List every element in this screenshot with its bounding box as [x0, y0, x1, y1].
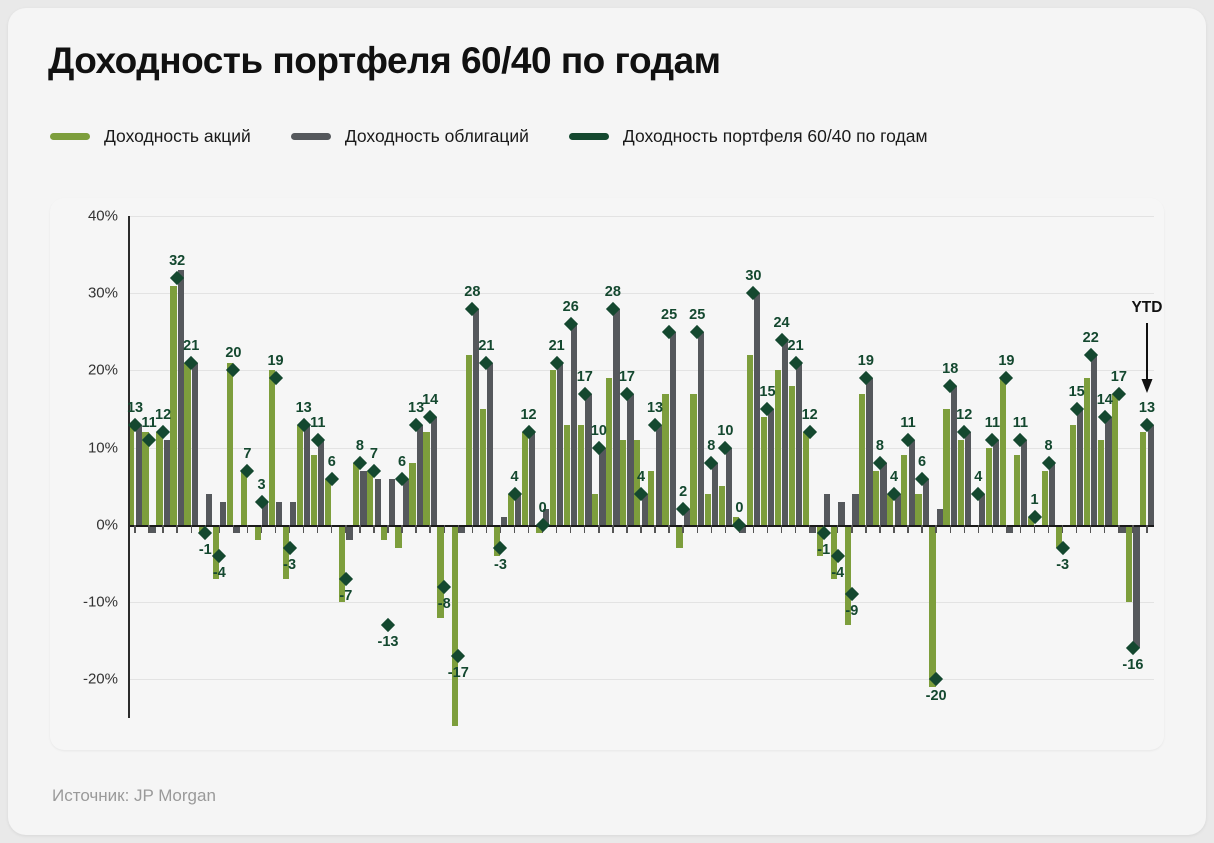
ytd-label: YTD: [1131, 299, 1162, 317]
x-axis-tick: [626, 525, 627, 533]
bar-stocks: [1084, 378, 1090, 525]
x-axis-tick: [528, 525, 529, 533]
bar-value-label: 22: [1083, 330, 1099, 346]
x-axis-tick: [444, 525, 445, 533]
bar-stocks: [803, 432, 809, 525]
x-axis-tick: [682, 525, 683, 533]
y-axis-tick-label: 20%: [88, 362, 118, 379]
bar-bonds: [431, 417, 437, 525]
x-axis-tick: [1104, 525, 1105, 533]
bar-value-label: 6: [328, 454, 336, 470]
x-axis-tick: [978, 525, 979, 533]
x-axis-tick: [486, 525, 487, 533]
legend-swatch-stocks-icon: [50, 133, 90, 140]
bar-value-label: 11: [985, 415, 1000, 431]
y-axis-tick-label: 0%: [96, 516, 118, 533]
x-axis-tick: [1118, 525, 1119, 533]
bar-value-label: 21: [788, 338, 804, 354]
x-axis-tick: [935, 525, 936, 533]
bar-stocks: [1042, 471, 1048, 525]
x-axis-tick: [500, 525, 501, 533]
bar-bonds: [1049, 463, 1055, 525]
x-axis-tick: [289, 525, 290, 533]
x-axis-tick: [584, 525, 585, 533]
x-axis-tick: [767, 525, 768, 533]
bar-stocks: [297, 425, 303, 525]
x-axis-tick: [331, 525, 332, 533]
x-axis-tick: [261, 525, 262, 533]
x-axis-tick: [851, 525, 852, 533]
bar-bonds: [965, 432, 971, 525]
x-axis-tick: [837, 525, 838, 533]
bar-bonds: [698, 332, 704, 525]
bar-stocks: [269, 370, 275, 524]
x-axis-tick: [879, 525, 880, 533]
y-axis-tick-label: -20%: [83, 671, 118, 688]
bar-bonds: [880, 463, 886, 525]
x-axis-tick: [1076, 525, 1077, 533]
bar-bonds: [318, 440, 324, 525]
bar-bonds: [290, 502, 296, 525]
bar-value-label: -4: [213, 565, 226, 581]
bar-value-label: -1: [817, 542, 830, 558]
x-axis-tick: [247, 525, 248, 533]
x-axis-tick: [1090, 525, 1091, 533]
bar-bonds: [557, 363, 563, 525]
x-axis-tick: [387, 525, 388, 533]
bar-value-label: 8: [876, 438, 884, 454]
bar-value-label: 4: [890, 469, 898, 485]
x-axis-tick: [429, 525, 430, 533]
bar-bonds: [487, 363, 493, 525]
bar-stocks: [1014, 455, 1020, 525]
bar-bonds: [220, 502, 226, 525]
bar-value-label: -3: [1056, 557, 1069, 573]
bar-stocks: [958, 440, 964, 525]
bar-value-label: 11: [1013, 415, 1028, 431]
bar-stocks: [1126, 525, 1132, 602]
legend-item-portfolio[interactable]: Доходность портфеля 60/40 по годам: [569, 126, 928, 147]
bar-value-label: 11: [900, 415, 915, 431]
x-axis-tick: [921, 525, 922, 533]
x-axis-tick: [162, 525, 163, 533]
x-axis-tick: [303, 525, 304, 533]
bar-value-label: 28: [464, 284, 480, 300]
bar-value-label: 20: [225, 345, 241, 361]
bar-value-label: 21: [549, 338, 565, 354]
bar-stocks: [1112, 394, 1118, 525]
legend-label: Доходность портфеля 60/40 по годам: [623, 126, 928, 147]
x-axis-tick: [992, 525, 993, 533]
bar-value-label: 19: [267, 353, 283, 369]
bar-value-label: 19: [998, 353, 1014, 369]
bar-bonds: [599, 448, 605, 525]
bar-bonds: [501, 517, 507, 525]
x-axis-tick: [654, 525, 655, 533]
x-axis-tick: [148, 525, 149, 533]
bar-value-label: 6: [398, 454, 406, 470]
bar-value-label: 14: [1097, 392, 1113, 408]
y-axis-tick-label: 40%: [88, 208, 118, 225]
x-axis-tick: [458, 525, 459, 533]
bar-bonds: [304, 425, 310, 525]
bar-value-label: 8: [1045, 438, 1053, 454]
source-caption: Источник: JP Morgan: [52, 786, 216, 806]
bar-bonds: [782, 340, 788, 525]
bar-bonds: [375, 479, 381, 525]
bar-bonds: [866, 378, 872, 525]
bar-stocks: [311, 455, 317, 525]
bar-value-label: 25: [661, 307, 677, 323]
x-axis-tick: [598, 525, 599, 533]
bar-value-label: -17: [448, 665, 469, 681]
x-axis-tick: [401, 525, 402, 533]
bar-value-label: 12: [520, 407, 536, 423]
bar-value-label: 4: [974, 469, 982, 485]
bar-value-label: 11: [310, 415, 325, 431]
bar-value-label: -3: [494, 557, 507, 573]
legend-swatch-bonds-icon: [291, 133, 331, 140]
bar-stocks: [409, 463, 415, 525]
x-axis-tick: [809, 525, 810, 533]
bar-bonds: [937, 509, 943, 524]
bar-bonds: [346, 525, 352, 540]
bar-bonds: [838, 502, 844, 525]
bar-bonds: [1091, 355, 1097, 525]
legend-item-stocks[interactable]: Доходность акций: [50, 126, 251, 147]
x-axis-tick: [556, 525, 557, 533]
bar-bonds: [656, 425, 662, 525]
bar-value-label: 24: [773, 315, 789, 331]
bar-bonds: [1105, 417, 1111, 525]
bar-value-label: 2: [679, 484, 687, 500]
bar-stocks: [986, 448, 992, 525]
x-axis-tick: [964, 525, 965, 533]
x-axis-tick: [697, 525, 698, 533]
x-axis-tick: [1020, 525, 1021, 533]
bar-value-label: 26: [563, 299, 579, 315]
x-axis-tick: [275, 525, 276, 533]
x-axis-tick: [570, 525, 571, 533]
bar-stocks: [423, 432, 429, 525]
bar-bonds: [417, 425, 423, 525]
bar-value-label: 13: [127, 400, 143, 416]
bar-value-label: 18: [942, 361, 958, 377]
bars-container: 1311123221-1-4207319-313116-787-1361314-…: [128, 216, 1154, 718]
bar-bonds: [670, 332, 676, 525]
bar-value-label: 0: [735, 500, 743, 516]
bar-bonds: [1077, 409, 1083, 525]
chart-legend: Доходность акцийДоходность облигацийДохо…: [50, 126, 967, 147]
x-axis-tick: [668, 525, 669, 533]
bar-value-label: 30: [745, 268, 761, 284]
bar-bonds: [389, 479, 395, 525]
bar-value-label: 1: [1030, 492, 1038, 508]
bar-bonds: [824, 494, 830, 525]
y-axis-line: [128, 216, 130, 718]
bar-stocks: [873, 471, 879, 525]
bar-stocks: [156, 432, 162, 525]
bar-value-label: 13: [296, 400, 312, 416]
x-axis-tick: [950, 525, 951, 533]
bar-value-label: 32: [169, 253, 185, 269]
bar-bonds: [192, 363, 198, 525]
x-axis-tick: [1146, 525, 1147, 533]
legend-label: Доходность акций: [104, 126, 251, 147]
y-axis-tick-label: 30%: [88, 285, 118, 302]
bar-stocks: [466, 355, 472, 525]
bar-value-label: 12: [956, 407, 972, 423]
bar-stocks: [761, 417, 767, 525]
x-axis-tick: [753, 525, 754, 533]
x-axis-tick: [373, 525, 374, 533]
x-axis-tick: [711, 525, 712, 533]
bar-value-label: 25: [689, 307, 705, 323]
x-axis-tick: [1034, 525, 1035, 533]
bar-value-label: 12: [802, 407, 818, 423]
bar-value-label: 14: [422, 392, 438, 408]
bar-stocks: [943, 409, 949, 525]
x-axis-tick: [345, 525, 346, 533]
bar-stocks: [241, 471, 247, 525]
bar-stocks: [606, 378, 612, 525]
bar-value-label: -4: [831, 565, 844, 581]
x-axis-tick: [795, 525, 796, 533]
bar-bonds: [613, 309, 619, 525]
bar-stocks: [775, 370, 781, 524]
bar-bonds: [993, 440, 999, 525]
bar-bonds: [178, 270, 184, 525]
bar-bonds: [768, 409, 774, 525]
bar-stocks: [690, 394, 696, 525]
x-axis-tick: [191, 525, 192, 533]
bar-value-label: 17: [577, 369, 593, 385]
bar-value-label: 13: [647, 400, 663, 416]
bar-bonds: [1148, 425, 1154, 525]
bar-value-label: -1: [199, 542, 212, 558]
x-axis-tick: [640, 525, 641, 533]
bar-value-label: -20: [926, 688, 947, 704]
bar-value-label: -13: [378, 634, 399, 650]
x-axis-tick: [1048, 525, 1049, 533]
x-axis-tick: [514, 525, 515, 533]
x-axis-tick: [612, 525, 613, 533]
bar-stocks: [719, 486, 725, 525]
bar-stocks: [184, 363, 190, 525]
bar-bonds: [276, 502, 282, 525]
bar-value-label: 17: [619, 369, 635, 385]
bar-value-label: 21: [183, 338, 199, 354]
x-axis-tick: [134, 525, 135, 533]
bar-value-label: 15: [1069, 384, 1085, 400]
x-axis-tick: [865, 525, 866, 533]
bar-stocks: [227, 363, 233, 525]
bar-value-label: 12: [155, 407, 171, 423]
bar-bonds: [206, 494, 212, 525]
bar-value-label: -9: [845, 603, 858, 619]
x-axis-tick: [893, 525, 894, 533]
y-axis-tick-label: 10%: [88, 439, 118, 456]
x-axis-tick: [219, 525, 220, 533]
bar-stocks: [367, 471, 373, 525]
bar-stocks: [592, 494, 598, 525]
bar-value-label: 17: [1111, 369, 1127, 385]
bar-stocks: [747, 355, 753, 525]
x-axis-tick: [359, 525, 360, 533]
ytd-arrow-icon: [1140, 323, 1154, 400]
x-axis-tick: [1062, 525, 1063, 533]
y-axis-tick-label: -10%: [83, 594, 118, 611]
bar-bonds: [571, 324, 577, 525]
bar-stocks: [564, 425, 570, 525]
x-axis-tick: [1132, 525, 1133, 533]
x-axis-tick: [472, 525, 473, 533]
bar-stocks: [1140, 432, 1146, 525]
bar-stocks: [578, 425, 584, 525]
chart-card: Доходность портфеля 60/40 по годам Доход…: [8, 8, 1206, 835]
bar-stocks: [915, 494, 921, 525]
bar-bonds: [360, 471, 366, 525]
bar-value-label: 3: [257, 477, 265, 493]
page-title: Доходность портфеля 60/40 по годам: [48, 40, 721, 82]
bar-bonds: [164, 440, 170, 525]
bar-stocks: [620, 440, 626, 525]
bar-stocks: [662, 394, 668, 525]
bar-value-label: 28: [605, 284, 621, 300]
portfolio-marker: [381, 618, 395, 632]
bar-value-label: -16: [1122, 657, 1143, 673]
bar-bonds: [852, 494, 858, 525]
bar-value-label: 4: [637, 469, 645, 485]
x-axis-tick: [415, 525, 416, 533]
bar-bonds: [403, 479, 409, 525]
bar-stocks: [325, 479, 331, 525]
bar-stocks: [1070, 425, 1076, 525]
bar-value-label: 0: [539, 500, 547, 516]
bar-bonds: [923, 479, 929, 525]
bar-bonds: [585, 394, 591, 525]
legend-item-bonds[interactable]: Доходность облигаций: [291, 126, 529, 147]
x-axis-tick: [317, 525, 318, 533]
bar-stocks: [859, 394, 865, 525]
plot-area: 40%30%20%10%0%-10%-20% 1311123221-1-4207…: [128, 216, 1154, 718]
x-axis-tick: [233, 525, 234, 533]
bar-bonds: [529, 432, 535, 525]
bar-stocks: [480, 409, 486, 525]
bar-value-label: 21: [478, 338, 494, 354]
bar-value-label: 10: [591, 423, 607, 439]
legend-label: Доходность облигаций: [345, 126, 529, 147]
bar-stocks: [648, 471, 654, 525]
bar-stocks: [901, 455, 907, 525]
bar-stocks: [929, 525, 935, 687]
bar-value-label: 4: [510, 469, 518, 485]
bar-value-label: 10: [717, 423, 733, 439]
bar-value-label: 15: [759, 384, 775, 400]
bar-bonds: [796, 363, 802, 525]
bar-stocks: [550, 370, 556, 524]
bar-stocks: [1098, 440, 1104, 525]
bar-bonds: [1021, 440, 1027, 525]
bar-stocks: [705, 494, 711, 525]
bar-value-label: 13: [1139, 400, 1155, 416]
bar-stocks: [789, 386, 795, 525]
bar-stocks: [522, 432, 528, 525]
bar-bonds: [627, 394, 633, 525]
bar-bonds: [712, 463, 718, 525]
bar-stocks: [452, 525, 458, 726]
x-axis-tick: [907, 525, 908, 533]
bar-value-label: 7: [370, 446, 378, 462]
bar-value-label: 19: [858, 353, 874, 369]
bar-value-label: -7: [339, 588, 352, 604]
bar-stocks: [1000, 378, 1006, 525]
bar-value-label: -3: [283, 557, 296, 573]
x-axis-tick: [725, 525, 726, 533]
x-axis-tick: [781, 525, 782, 533]
bar-value-label: 6: [918, 454, 926, 470]
bar-value-label: 7: [243, 446, 251, 462]
bar-stocks: [170, 286, 176, 525]
x-axis-tick: [176, 525, 177, 533]
bar-value-label: 8: [707, 438, 715, 454]
bar-bonds: [726, 448, 732, 525]
plot-panel: 40%30%20%10%0%-10%-20% 1311123221-1-4207…: [50, 198, 1164, 750]
bar-stocks: [353, 463, 359, 525]
legend-swatch-portfolio-icon: [569, 133, 609, 140]
bar-bonds: [1133, 525, 1139, 649]
bar-value-label: -8: [438, 596, 451, 612]
bar-value-label: 8: [356, 438, 364, 454]
x-axis-tick: [1006, 525, 1007, 533]
bar-bonds: [909, 440, 915, 525]
